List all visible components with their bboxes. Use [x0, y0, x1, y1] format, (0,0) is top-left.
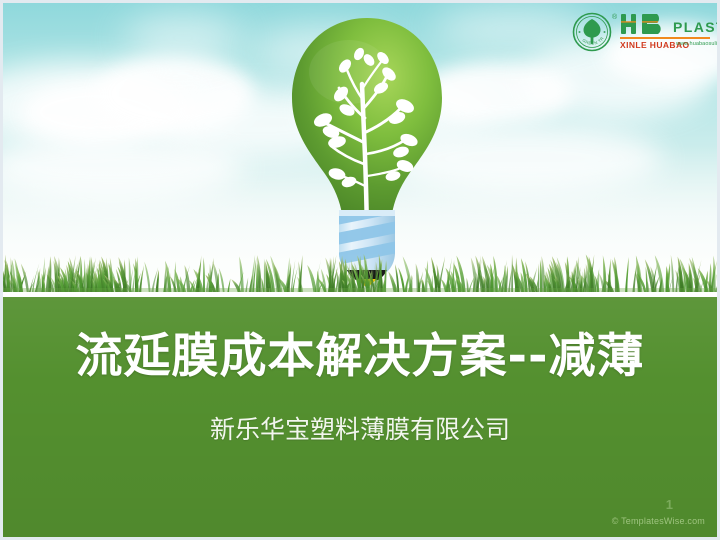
page-title: 流延膜成本解决方案--减薄 — [3, 331, 717, 383]
logo-underline — [620, 37, 710, 39]
presentation-slide: 流延膜成本解决方案--减薄 新乐华宝塑料薄膜有限公司 1 © Templates… — [0, 0, 720, 540]
green-lightbulb-with-plant-illustration — [287, 14, 447, 286]
green-tree-emblem-icon: GREEN TREE — [572, 12, 612, 52]
logo-wordmark: PLASTIC — [673, 19, 720, 35]
company-logo[interactable]: GREEN TREE ® PLASTIC XINLE HUABAO www.hu… — [572, 10, 712, 54]
template-credit: © TemplatesWise.com — [612, 516, 705, 526]
registered-trademark-icon: ® — [612, 14, 617, 21]
grass-strip-illustration — [3, 252, 717, 294]
slide-number: 1 — [666, 497, 673, 512]
hb-monogram-icon — [620, 13, 672, 35]
logo-website: www.huabaosuliao.com — [676, 41, 720, 47]
title-panel: 流延膜成本解决方案--减薄 新乐华宝塑料薄膜有限公司 1 © Templates… — [3, 297, 717, 537]
cloud-shape — [123, 15, 243, 61]
page-subtitle: 新乐华宝塑料薄膜有限公司 — [3, 415, 717, 445]
cloud-shape — [433, 9, 593, 49]
